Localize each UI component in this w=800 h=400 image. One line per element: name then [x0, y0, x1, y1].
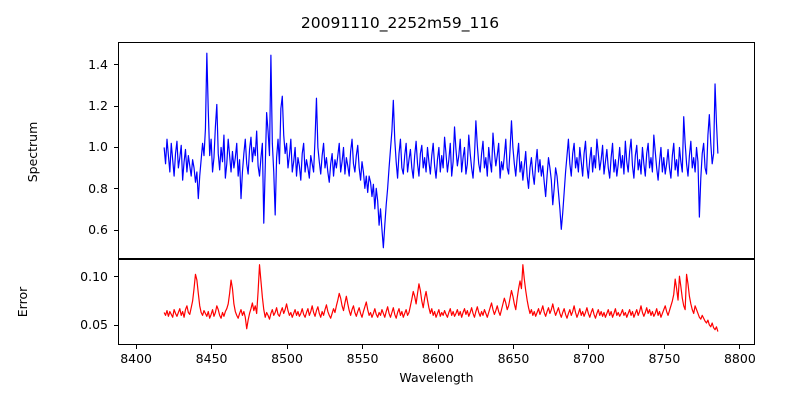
figure-canvas: 20091110_2252m59_116 0.60.81.01.21.40.05…: [0, 0, 800, 400]
error-series-line: [119, 260, 754, 344]
y-axis-label-error: Error: [15, 252, 31, 352]
y-tick-spectrum: [114, 147, 118, 148]
y-axis-label-spectrum: Spectrum: [25, 72, 41, 232]
y-tick-label-spectrum: 1.0: [0, 139, 108, 154]
x-tick: [588, 345, 589, 349]
y-tick-label-spectrum: 1.2: [0, 98, 108, 113]
y-tick-spectrum: [114, 64, 118, 65]
x-tick: [136, 345, 137, 349]
x-tick-label: 8800: [700, 351, 780, 366]
y-tick-spectrum: [114, 230, 118, 231]
x-tick-label: 8450: [172, 351, 252, 366]
spectrum-series-line: [119, 43, 754, 258]
x-axis-label: Wavelength: [118, 370, 755, 385]
x-tick: [211, 345, 212, 349]
x-tick-label: 8750: [624, 351, 704, 366]
x-tick-label: 8600: [398, 351, 478, 366]
y-tick-label-spectrum: 0.8: [0, 181, 108, 196]
x-tick: [513, 345, 514, 349]
error-plot-area: [118, 259, 755, 345]
x-tick-label: 8400: [96, 351, 176, 366]
x-tick-label: 8700: [549, 351, 629, 366]
y-tick-label-spectrum: 1.4: [0, 57, 108, 72]
y-tick-label-spectrum: 0.6: [0, 222, 108, 237]
x-tick-label: 8500: [247, 351, 327, 366]
y-tick-error: [114, 325, 118, 326]
x-tick: [739, 345, 740, 349]
spectrum-plot-area: [118, 42, 755, 259]
y-tick-error: [114, 276, 118, 277]
y-tick-spectrum: [114, 188, 118, 189]
x-tick: [287, 345, 288, 349]
x-tick: [438, 345, 439, 349]
page-title: 20091110_2252m59_116: [0, 14, 800, 32]
y-tick-spectrum: [114, 106, 118, 107]
x-tick: [362, 345, 363, 349]
x-tick: [664, 345, 665, 349]
x-tick-label: 8650: [473, 351, 553, 366]
x-tick-label: 8550: [323, 351, 403, 366]
